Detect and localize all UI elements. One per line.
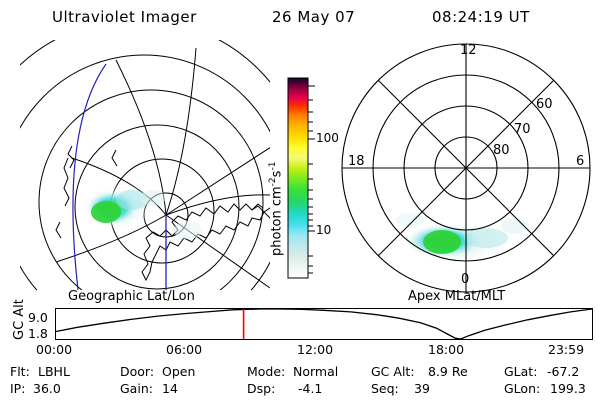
orbit-altitude-plot[interactable] <box>55 308 593 340</box>
status-seq-value: 39 <box>414 381 430 396</box>
mlt-label-12: 12 <box>460 43 477 58</box>
observation-date: 26 May 07 <box>272 8 355 26</box>
instrument-title: Ultraviolet Imager <box>52 8 197 26</box>
status-gain-key: Gain: <box>120 381 153 396</box>
time-tick-1200: 12:00 <box>297 342 333 357</box>
status-gcalt-value: 8.9 Re <box>428 364 468 379</box>
status-door-key: Door: <box>120 364 154 379</box>
mlat-label-60: 60 <box>536 97 553 112</box>
status-flt-key: Flt: <box>10 364 30 379</box>
time-tick-0600: 06:00 <box>166 342 202 357</box>
status-glon-key: GLon: <box>504 381 540 396</box>
antarctica-coastline <box>142 204 270 280</box>
colorbar-tick-label-10: 10 <box>316 223 331 237</box>
time-tick-1800: 18:00 <box>428 342 464 357</box>
gc-alt-tick-1p8: 1.8 <box>28 326 48 341</box>
time-tick-0000: 00:00 <box>36 342 72 357</box>
mlat-label-80: 80 <box>493 143 510 158</box>
status-dsp-value: -4.1 <box>298 381 322 396</box>
mlt-label-0: 0 <box>461 272 469 287</box>
colorbar-axis-title-s: s <box>269 171 284 178</box>
status-seq-key: Seq: <box>371 381 399 396</box>
magnetic-polar-panel[interactable] <box>336 38 598 294</box>
observation-time: 08:24:19 UT <box>432 8 530 26</box>
right-panel-caption: Apex MLat/MLT <box>408 289 505 304</box>
aurora-emission-region-mlt <box>396 213 527 265</box>
status-mode-key: Mode: <box>247 364 285 379</box>
status-ip-value: 36.0 <box>33 381 61 396</box>
mlt-spokes <box>342 44 590 292</box>
geographic-longitude-grid <box>56 48 270 290</box>
status-glat-key: GLat: <box>504 364 537 379</box>
aurora-emission-region <box>80 183 202 239</box>
uvi-summary-plot: Ultraviolet Imager 26 May 07 08:24:19 UT <box>0 0 600 400</box>
left-panel-caption: Geographic Lat/Lon <box>68 289 195 304</box>
colorbar-exp-minus1: -1 <box>268 162 278 171</box>
status-dsp-key: Dsp: <box>247 381 275 396</box>
gc-alt-tick-9: 9.0 <box>28 310 48 325</box>
colorbar-gradient <box>288 78 308 278</box>
mlt-label-6: 6 <box>576 154 584 169</box>
status-gain-value: 14 <box>162 381 178 396</box>
status-glon-value: 199.3 <box>550 381 586 396</box>
status-gcalt-key: GC Alt: <box>371 364 415 379</box>
status-flt-value: LBHL <box>38 364 70 379</box>
colorbar-axis-title-text: photon cm <box>269 186 284 256</box>
time-tick-2359: 23:59 <box>548 342 584 357</box>
status-glat-value: -67.2 <box>547 364 579 379</box>
status-door-value: Open <box>162 364 195 379</box>
gc-alt-axis-title-text: GC Alt <box>12 299 27 340</box>
status-ip-key: IP: <box>10 381 25 396</box>
colorbar-exp-minus2: -2 <box>268 177 278 186</box>
colorbar-ticks <box>308 86 315 273</box>
status-mode-value: Normal <box>293 364 338 379</box>
terminator-line <box>73 64 106 290</box>
mlt-label-18: 18 <box>348 154 365 169</box>
geographic-polar-panel[interactable] <box>20 40 270 290</box>
mlat-label-70: 70 <box>514 122 531 137</box>
